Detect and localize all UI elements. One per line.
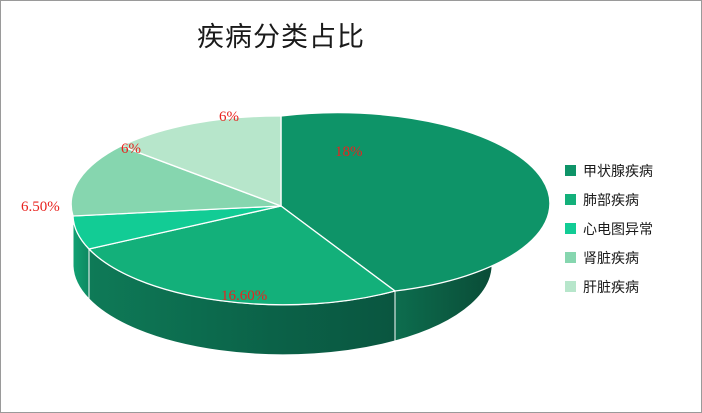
legend-item-label: 肾脏疾病 — [583, 248, 639, 268]
legend-item-liver[interactable]: 肝脏疾病 — [565, 272, 687, 301]
legend-item-label: 心电图异常 — [583, 219, 653, 239]
pie-chart-container: 疾病分类占比 — [0, 0, 702, 413]
plot-area: 18% 16.60% 6.50% 6% 6% — [1, 76, 561, 376]
chart-legend: 甲状腺疾病 肺部疾病 心电图异常 肾脏疾病 肝脏疾病 — [565, 156, 687, 301]
legend-swatch-icon — [565, 194, 576, 205]
legend-item-label: 甲状腺疾病 — [583, 161, 653, 181]
chart-title: 疾病分类占比 — [1, 15, 561, 54]
legend-item-lung[interactable]: 肺部疾病 — [565, 185, 687, 214]
legend-swatch-icon — [565, 223, 576, 234]
legend-item-thyroid[interactable]: 甲状腺疾病 — [565, 156, 687, 185]
legend-item-label: 肝脏疾病 — [583, 277, 639, 297]
legend-swatch-icon — [565, 252, 576, 263]
legend-swatch-icon — [565, 281, 576, 292]
legend-swatch-icon — [565, 165, 576, 176]
pie-3d-graphic — [1, 76, 561, 376]
legend-item-label: 肺部疾病 — [583, 190, 639, 210]
legend-item-ecg[interactable]: 心电图异常 — [565, 214, 687, 243]
legend-item-kidney[interactable]: 肾脏疾病 — [565, 243, 687, 272]
